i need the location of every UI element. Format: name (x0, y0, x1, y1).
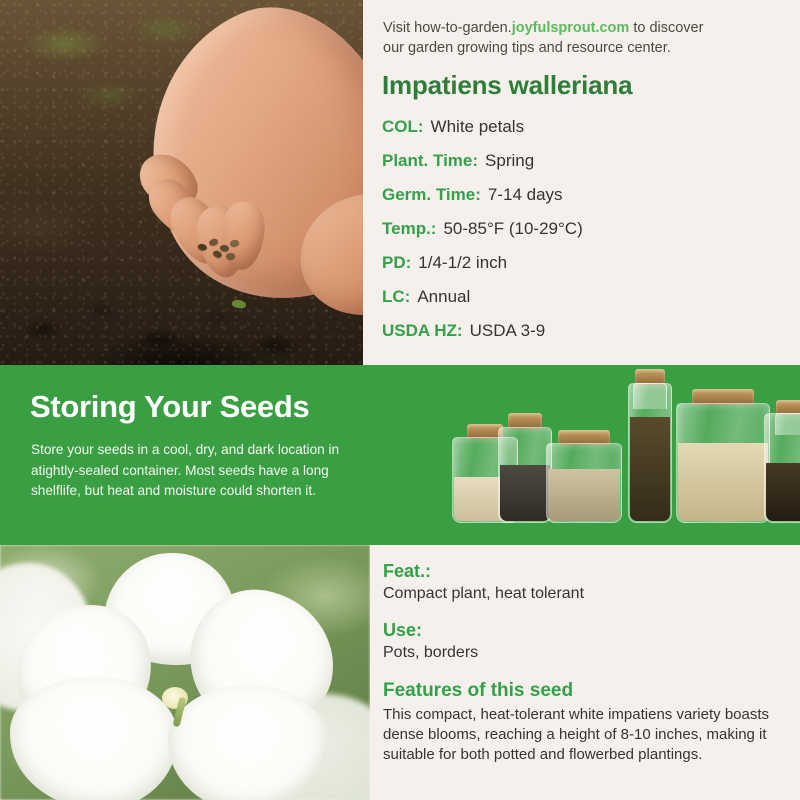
use-label: Use: (383, 618, 787, 642)
storing-body: Store your seeds in a cool, dry, and dar… (31, 440, 349, 502)
seed-jar (676, 403, 770, 523)
soil-sowing-photo (0, 0, 363, 365)
spec-row-col: COL: White petals (382, 110, 792, 144)
feat-value: Compact plant, heat tolerant (383, 583, 787, 605)
spec-value: 1/4-1/2 inch (418, 246, 507, 280)
spec-value: Spring (485, 144, 534, 178)
spec-value: White petals (431, 110, 525, 144)
spec-label: Germ. Time: (382, 178, 481, 212)
features-heading: Features of this seed (383, 677, 787, 706)
seed-packet: Visit how-to-garden.joyfulsprout.com to … (0, 0, 800, 800)
seed-jar (498, 427, 552, 523)
features-panel: Feat.: Compact plant, heat tolerant Use:… (370, 545, 800, 800)
spec-label: COL: (382, 110, 424, 144)
website-link[interactable]: joyfulsprout.com (512, 20, 630, 36)
storing-line-2: atightly-sealed container. Most seeds ha… (31, 461, 349, 482)
storing-title: Storing Your Seeds (30, 389, 309, 425)
spec-list: COL: White petals Plant. Time: Spring Ge… (382, 110, 792, 348)
spec-label: Temp.: (382, 212, 436, 246)
feat-label: Feat.: (383, 559, 787, 583)
spec-value: 50-85°F (10-29°C) (443, 212, 582, 246)
spec-row-usda-hz: USDA HZ: USDA 3-9 (382, 314, 792, 348)
spec-row-germ-time: Germ. Time: 7-14 days (382, 178, 792, 212)
spec-value: 7-14 days (488, 178, 563, 212)
spec-value: Annual (417, 280, 470, 314)
flower-petal (168, 685, 328, 800)
visit-website-line: Visit how-to-garden.joyfulsprout.com to … (383, 18, 781, 58)
seed-jars-illustration (452, 365, 800, 545)
features-para-line-1: This compact, heat-tolerant white impati… (383, 705, 787, 725)
storing-seeds-band: Storing Your Seeds Store your seeds in a… (0, 365, 800, 545)
spec-value: USDA 3-9 (470, 314, 546, 348)
seeds-in-hand (196, 236, 248, 266)
features-para-line-2: dense blooms, reaching a height of 8-10 … (383, 725, 787, 745)
spec-row-temp: Temp.: 50-85°F (10-29°C) (382, 212, 792, 246)
storing-line-3: shelflife, but heat and moisture could s… (31, 481, 349, 502)
features-content: Feat.: Compact plant, heat tolerant Use:… (383, 559, 787, 766)
spec-label: PD: (382, 246, 411, 280)
spec-label: LC: (382, 280, 410, 314)
white-impatiens-photo (0, 545, 370, 800)
visit-suffix: to discover (629, 20, 703, 36)
use-value: Pots, borders (383, 642, 787, 664)
page-title: Impatiens walleriana (382, 70, 632, 101)
spec-label: Plant. Time: (382, 144, 478, 178)
visit-prefix: Visit how-to-garden. (383, 20, 512, 36)
storing-line-1: Store your seeds in a cool, dry, and dar… (31, 440, 349, 461)
spec-row-lc: LC: Annual (382, 280, 792, 314)
flower-petal (10, 677, 178, 800)
features-paragraph: This compact, heat-tolerant white impati… (383, 705, 787, 765)
features-para-line-3: suitable for both potted and flowerbed p… (383, 745, 787, 765)
specs-panel: Visit how-to-garden.joyfulsprout.com to … (363, 0, 800, 365)
seed-jar (764, 413, 800, 523)
seed-jar (628, 383, 672, 523)
spec-row-plant-time: Plant. Time: Spring (382, 144, 792, 178)
seed-jar (546, 443, 622, 523)
spec-label: USDA HZ: (382, 314, 463, 348)
spec-row-pd: PD: 1/4-1/2 inch (382, 246, 792, 280)
visit-line-2: our garden growing tips and resource cen… (383, 38, 781, 58)
